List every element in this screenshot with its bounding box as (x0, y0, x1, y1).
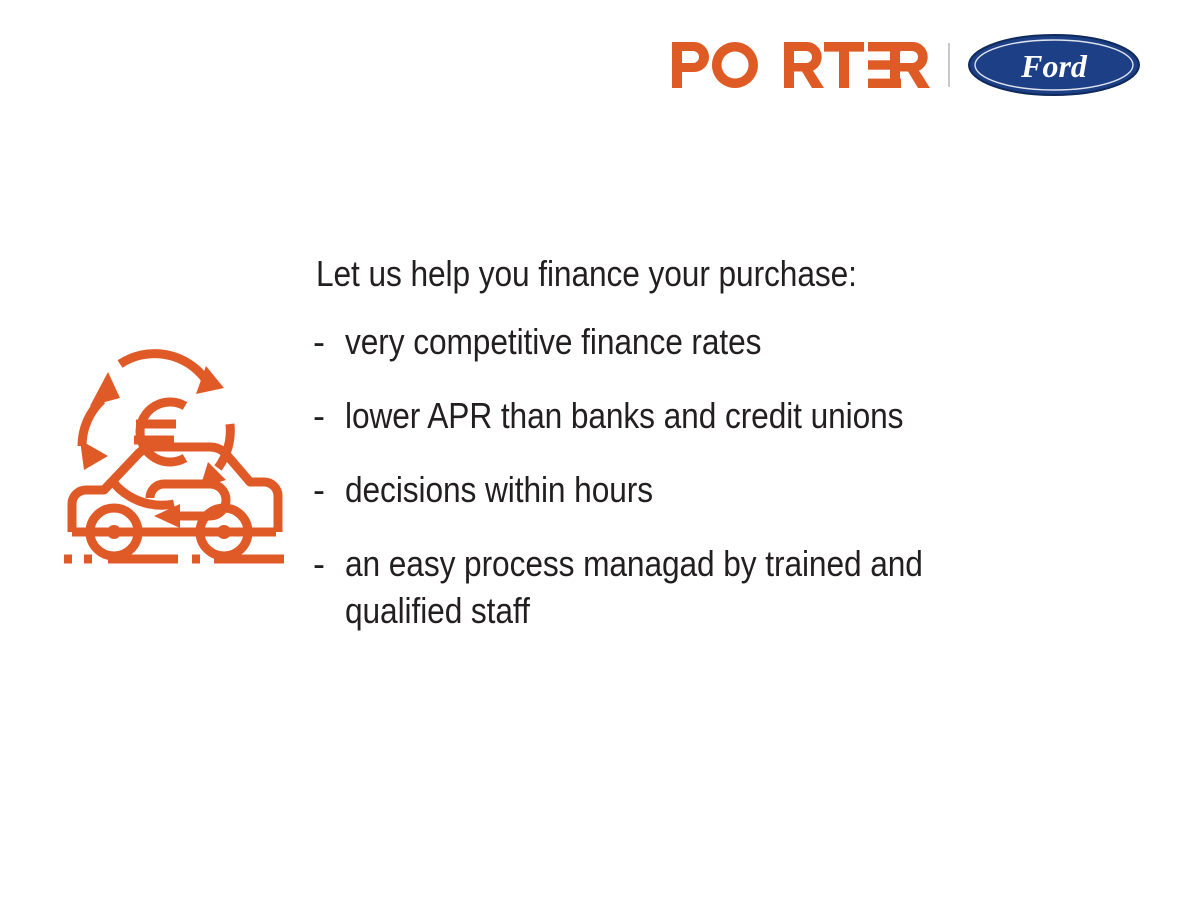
brand-lockup: Ford (672, 32, 1140, 98)
slide-canvas: Ford (0, 0, 1200, 900)
benefits-list: - very competitive finance rates - lower… (313, 318, 1103, 634)
bullet-dash-marker: - (313, 392, 345, 439)
brand-divider (948, 43, 950, 87)
finance-copy-block: Let us help you finance your purchase: -… (313, 252, 1103, 634)
list-item-label: an easy process managad by trained and q… (345, 540, 1012, 634)
bullet-dash-marker: - (313, 540, 345, 587)
list-item-label: decisions within hours (345, 466, 1012, 513)
list-item: - very competitive finance rates (313, 318, 1103, 365)
ford-logo: Ford (968, 34, 1140, 96)
ford-wordmark-text: Ford (1020, 48, 1088, 84)
list-item: - lower APR than banks and credit unions (313, 392, 1103, 439)
list-item: - an easy process managad by trained and… (313, 540, 1103, 634)
list-item: - decisions within hours (313, 466, 1103, 513)
bullet-dash-marker: - (313, 318, 345, 365)
bullet-dash-marker: - (313, 466, 345, 513)
car-finance-euro-icon (58, 328, 290, 568)
porter-logo (672, 42, 930, 88)
headline: Let us help you finance your purchase: (316, 252, 1009, 296)
list-item-label: lower APR than banks and credit unions (345, 392, 1012, 439)
list-item-label: very competitive finance rates (345, 318, 1012, 365)
